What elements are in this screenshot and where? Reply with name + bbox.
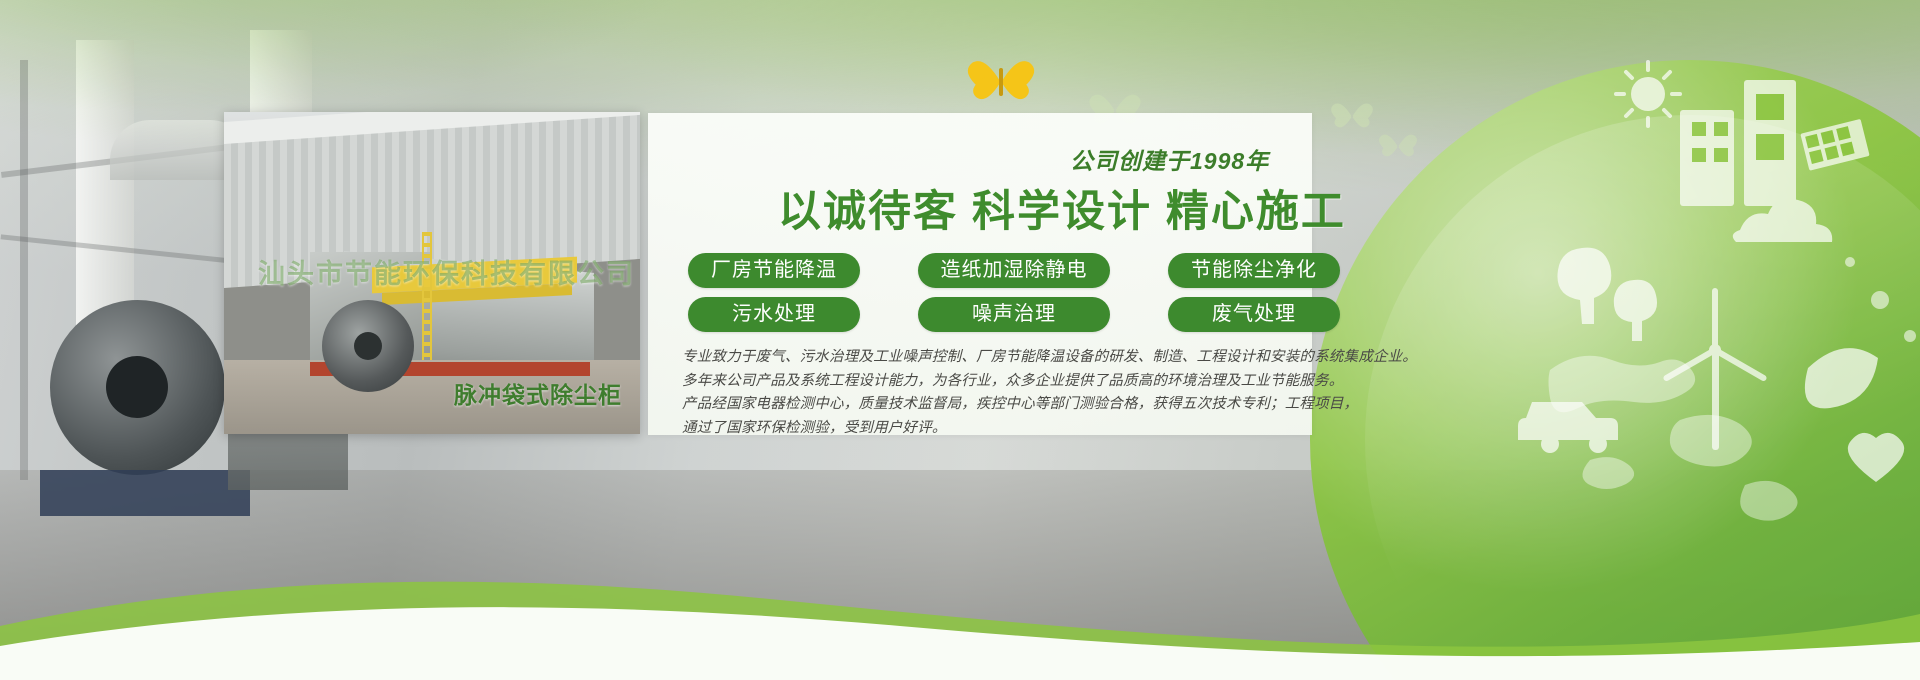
service-tag-paper-humidify[interactable]: 造纸加湿除静电 (918, 253, 1110, 288)
photo-blower-hub (354, 332, 382, 360)
photo-caption: 脉冲袋式除尘柜 (454, 376, 622, 410)
banner-content: 公司创建于1998年 以诚待客 科学设计 精心施工 厂房节能降温 造纸加湿除静电… (672, 150, 1572, 440)
service-tag-noise-control[interactable]: 噪声治理 (918, 297, 1110, 332)
butterfly-icon (1330, 96, 1374, 136)
service-tag-waste-gas[interactable]: 废气处理 (1168, 297, 1340, 332)
service-tag-dust-purification[interactable]: 节能除尘净化 (1168, 253, 1340, 288)
bg-blower-hub (106, 356, 168, 418)
description-line: 产品经国家电器检测中心，质量技术监督局，疾控中心等部门测验合格，获得五次技术专利… (682, 393, 1322, 416)
company-watermark: 汕头市节能环保科技有限公司 (258, 252, 635, 291)
promotional-banner: 脉冲袋式除尘柜 汕头市节能环保科技有限公司 公司创建于1998年 以诚待客 科学… (0, 0, 1920, 680)
bg-motor-base (40, 470, 250, 516)
description-line: 通过了国家环保检测验，受到用户好评。 (682, 417, 1322, 440)
service-tag-sewage-treatment[interactable]: 污水处理 (688, 297, 860, 332)
service-tags: 厂房节能降温 造纸加湿除静电 节能除尘净化 污水处理 噪声治理 废气处理 (688, 253, 1300, 332)
headline-slogan: 以诚待客 科学设计 精心施工 (778, 189, 1572, 235)
description-line: 专业致力于废气、污水治理及工业噪声控制、厂房节能降温设备的研发、制造、工程设计和… (682, 346, 1322, 369)
description-line: 多年来公司产品及系统工程设计能力，为各行业，众多企业提供了品质高的环境治理及工业… (682, 370, 1322, 393)
butterfly-icon (966, 50, 1036, 112)
service-tag-factory-cooling[interactable]: 厂房节能降温 (688, 253, 860, 288)
company-description: 专业致力于废气、污水治理及工业噪声控制、厂房节能降温设备的研发、制造、工程设计和… (682, 346, 1322, 440)
bottom-wave-decoration (0, 530, 1920, 680)
service-tags-row-1: 厂房节能降温 造纸加湿除静电 节能除尘净化 (688, 253, 1300, 288)
service-tags-row-2: 污水处理 噪声治理 废气处理 (688, 297, 1300, 332)
eyebrow-text: 公司创建于1998年 (1070, 150, 1572, 173)
